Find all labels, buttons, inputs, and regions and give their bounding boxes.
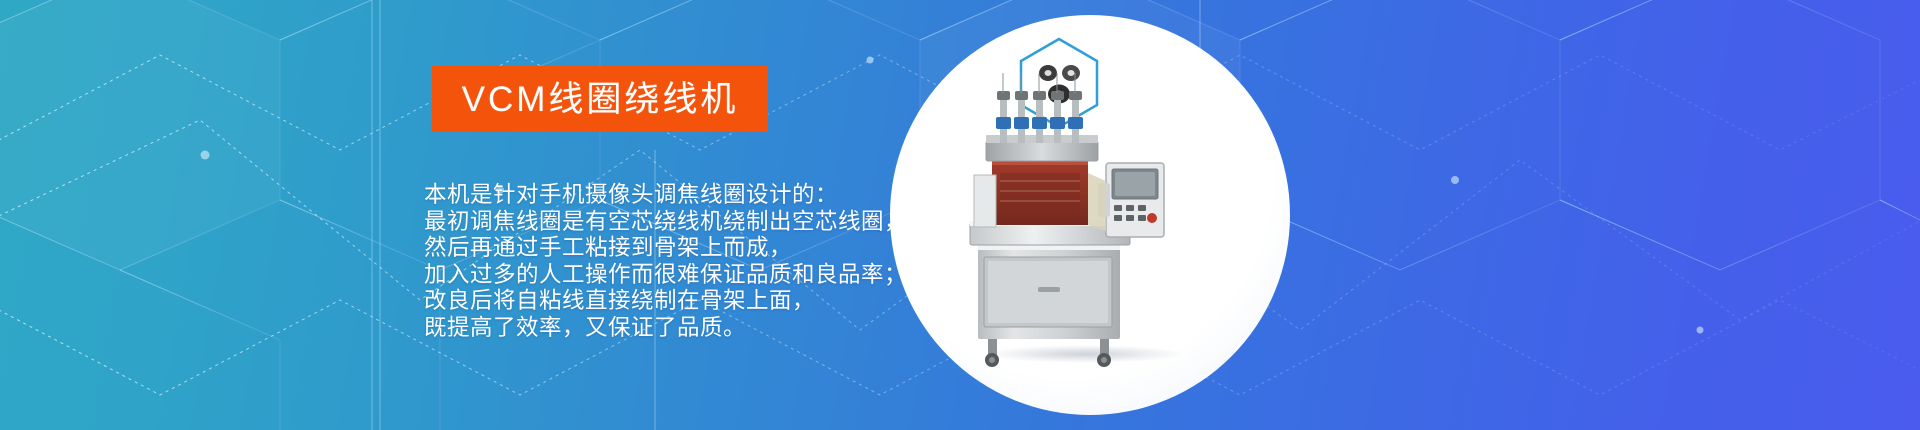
product-showcase [890,15,1290,415]
page-title: VCM线圈绕线机 [462,82,739,117]
winding-machine-photo [930,55,1250,385]
title-badge: VCM线圈绕线机 [432,66,768,132]
promo-banner: VCM线圈绕线机 本机是针对手机摄像头调焦线圈设计的： 最初调焦线圈是有空芯绕线… [0,0,1920,430]
